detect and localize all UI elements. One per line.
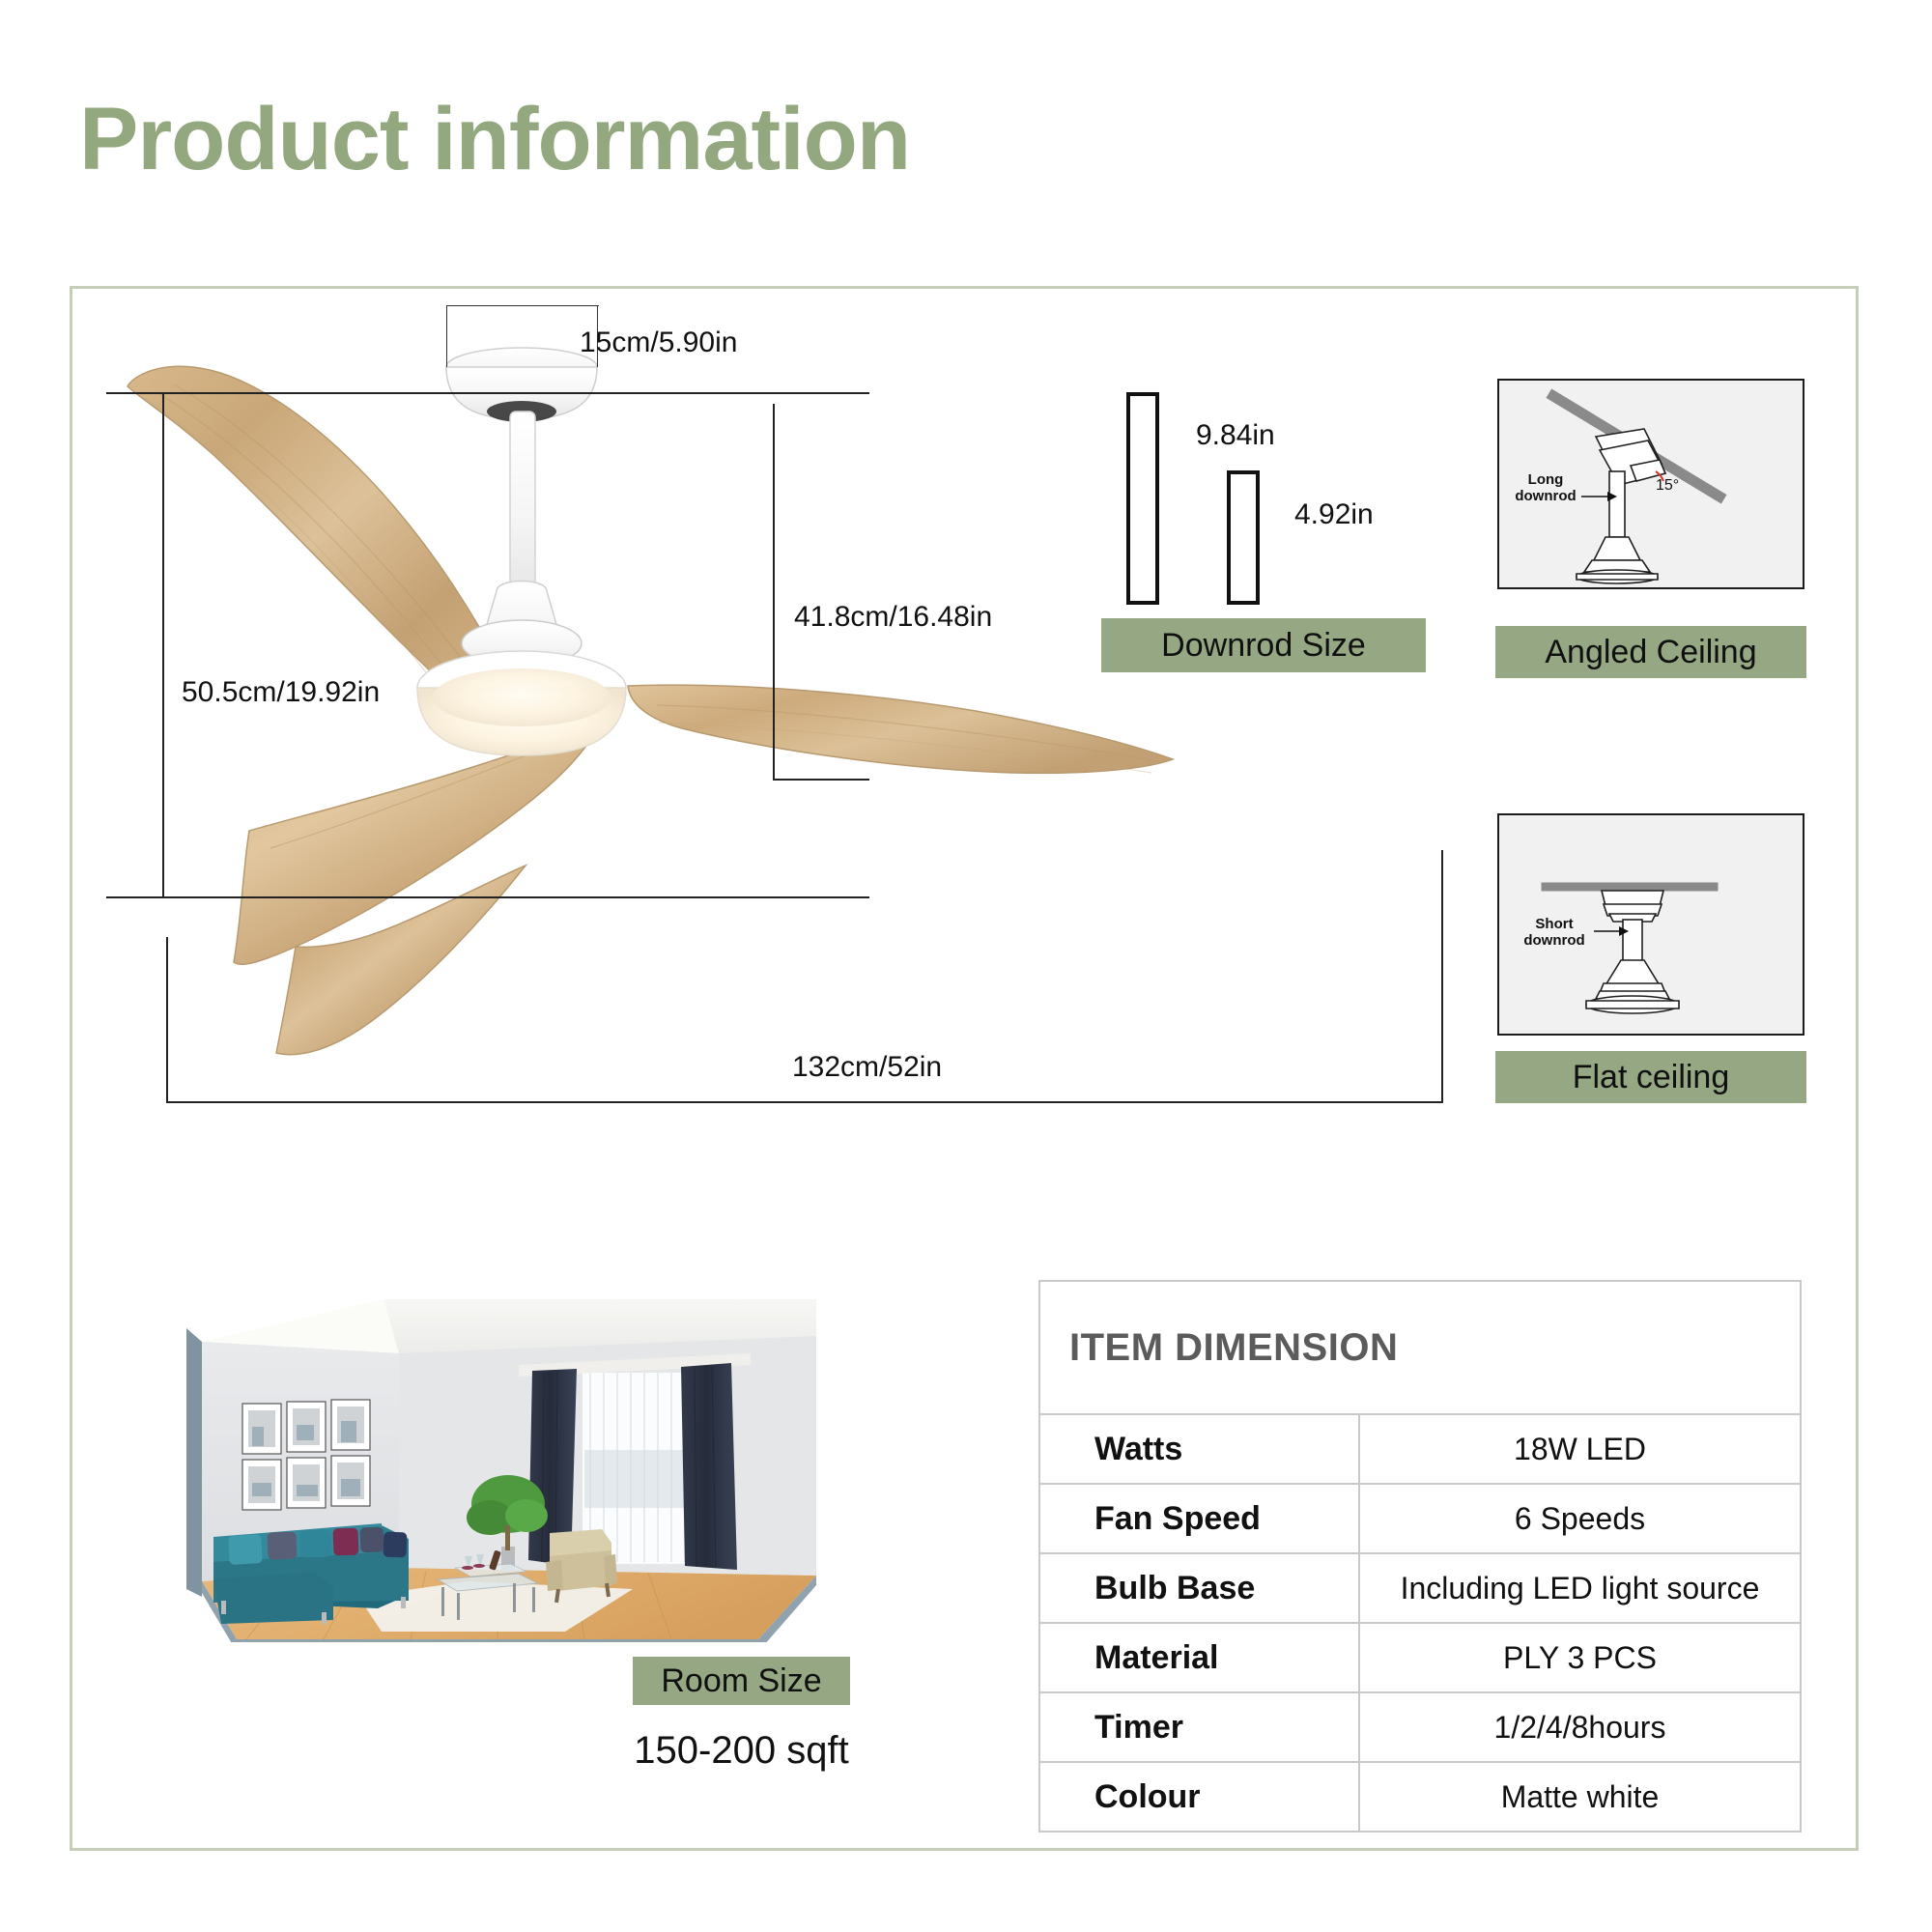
- blade-span-left-tick: [166, 937, 168, 1101]
- long-downrod-length-label: 9.84in: [1196, 419, 1275, 452]
- downrod-size-caption: Downrod Size: [1101, 618, 1426, 672]
- spec-key-fan-speed: Fan Speed: [1039, 1484, 1359, 1553]
- short-downrod-icon: [1227, 470, 1260, 605]
- short-downrod-note: Short downrod: [1517, 916, 1592, 950]
- blade-span-right-tick: [1441, 850, 1443, 1101]
- table-row: Bulb Base Including LED light source: [1039, 1553, 1801, 1623]
- spec-value-material: PLY 3 PCS: [1359, 1623, 1801, 1692]
- drop-height-dim-line: [773, 404, 775, 781]
- long-downrod-note-line1: Long: [1528, 471, 1564, 488]
- overall-top-extension-line: [106, 392, 869, 394]
- spec-value-fan-speed: 6 Speeds: [1359, 1484, 1801, 1553]
- item-dimension-table: ITEM DIMENSION Watts 18W LED Fan Speed 6…: [1038, 1280, 1802, 1833]
- canopy-width-label: 15cm/5.90in: [580, 327, 737, 359]
- page-title: Product information: [79, 89, 910, 190]
- table-row: Watts 18W LED: [1039, 1414, 1801, 1484]
- table-row: Material PLY 3 PCS: [1039, 1623, 1801, 1692]
- room-cutaway-render: [179, 1261, 845, 1642]
- room-size-value: 150-200 sqft: [633, 1729, 850, 1773]
- angled-ceiling-diagram: Long downrod 15°: [1497, 379, 1804, 589]
- blade-span-dim-line: [166, 1101, 1443, 1103]
- angle-value-label: 15°: [1656, 477, 1679, 495]
- flat-ceiling-caption: Flat ceiling: [1495, 1051, 1806, 1103]
- spec-value-timer: 1/2/4/8hours: [1359, 1692, 1801, 1762]
- blade-span-label: 132cm/52in: [792, 1051, 942, 1084]
- long-downrod-note: Long downrod: [1511, 471, 1580, 505]
- long-downrod-icon: [1126, 392, 1159, 605]
- canopy-width-line: [446, 305, 599, 306]
- table-header-title: ITEM DIMENSION: [1039, 1281, 1801, 1414]
- spec-value-bulb-base: Including LED light source: [1359, 1553, 1801, 1623]
- drop-height-label: 41.8cm/16.48in: [794, 601, 992, 634]
- short-downrod-note-line2: downrod: [1523, 932, 1584, 949]
- flat-ceiling-diagram: Short downrod: [1497, 813, 1804, 1036]
- overall-height-dim-line: [162, 392, 164, 896]
- canopy-left-leader: [446, 305, 447, 367]
- angled-ceiling-caption: Angled Ceiling: [1495, 626, 1806, 678]
- spec-value-watts: 18W LED: [1359, 1414, 1801, 1484]
- spec-key-watts: Watts: [1039, 1414, 1359, 1484]
- table-header-row: ITEM DIMENSION: [1039, 1281, 1801, 1414]
- spec-key-bulb-base: Bulb Base: [1039, 1553, 1359, 1623]
- room-size-caption: Room Size: [633, 1657, 850, 1705]
- spec-key-material: Material: [1039, 1623, 1359, 1692]
- drop-height-bottom-tick: [773, 779, 869, 781]
- room-size-illustration: [179, 1261, 845, 1642]
- spec-key-timer: Timer: [1039, 1692, 1359, 1762]
- overall-height-label: 50.5cm/19.92in: [182, 676, 380, 709]
- table-row: Timer 1/2/4/8hours: [1039, 1692, 1801, 1762]
- short-downrod-note-line1: Short: [1535, 916, 1573, 932]
- short-downrod-length-label: 4.92in: [1294, 498, 1374, 531]
- table-row: Colour Matte white: [1039, 1762, 1801, 1832]
- spec-key-colour: Colour: [1039, 1762, 1359, 1832]
- spec-value-colour: Matte white: [1359, 1762, 1801, 1832]
- long-downrod-note-line2: downrod: [1515, 488, 1576, 504]
- overall-bottom-extension-line: [106, 896, 869, 898]
- table-row: Fan Speed 6 Speeds: [1039, 1484, 1801, 1553]
